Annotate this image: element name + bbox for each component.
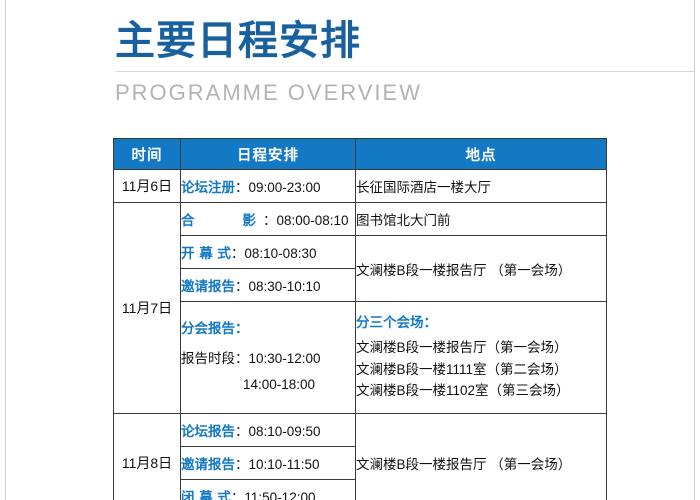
schedule-label: 论坛注册: [181, 180, 235, 196]
table-header-row: 时间 日程安排 地点: [114, 139, 607, 170]
parallel-venues-heading: 分三个会场：: [356, 311, 606, 337]
programme-overview-page: 主要日程安排 PROGRAMME OVERVIEW 时间 日程安排 地点 11月…: [0, 0, 700, 500]
table-row: 11月8日 论坛报告：08:10-09:50 文澜楼B段一楼报告厅 （第一会场）: [114, 414, 607, 447]
column-header-schedule: 日程安排: [181, 139, 356, 170]
column-header-time: 时间: [114, 139, 181, 170]
schedule-label: 论坛报告: [181, 424, 235, 440]
schedule-label: 开 幕 式: [181, 246, 231, 262]
table-row: 11月7日 合 影：08:00-08:10 图书馆北大门前: [114, 203, 607, 236]
schedule-separator: ：: [263, 213, 277, 228]
place-cell-parallel: 分三个会场： 文澜楼B段一楼报告厅（第一会场） 文澜楼B段一楼1111室（第二会…: [356, 302, 607, 414]
page-subtitle: PROGRAMME OVERVIEW: [115, 80, 675, 106]
table-row-parallel-sessions: 分会报告： 报告时段：10:30-12:00 14:00-18:00 分三个会场…: [114, 302, 607, 414]
page-left-rule: [5, 0, 6, 500]
place-cell: 文澜楼B段一楼报告厅 （第一会场）: [356, 414, 607, 500]
schedule-cell: 合 影：08:00-08:10: [181, 203, 356, 236]
place-cell: 图书馆北大门前: [356, 203, 607, 236]
header-block: 主要日程安排 PROGRAMME OVERVIEW: [115, 18, 675, 106]
venue-line: 文澜楼B段一楼1102室（第三会场）: [356, 380, 606, 402]
schedule-label: 邀请报告: [181, 457, 235, 473]
slot-time: 10:30-12:00: [249, 351, 321, 366]
schedule-cell: 开 幕 式：08:10-08:30: [181, 236, 356, 269]
place-cell: 长征国际酒店一楼大厅: [356, 170, 607, 203]
column-header-place: 地点: [356, 139, 607, 170]
schedule-label: 闭 幕 式: [181, 490, 231, 500]
schedule-time: 08:10-08:30: [244, 246, 316, 261]
venue-line: 文澜楼B段一楼1111室（第二会场）: [356, 359, 606, 381]
page-title: 主要日程安排: [115, 18, 675, 65]
slot-time: 14:00-18:00: [243, 377, 315, 392]
schedule-time: 09:00-23:00: [249, 180, 321, 195]
schedule-cell: 邀请报告：08:30-10:10: [181, 269, 356, 302]
schedule-separator: ：: [235, 279, 249, 294]
schedule-label: 合 影: [181, 213, 263, 229]
schedule-label: 邀请报告: [181, 279, 235, 295]
schedule-time: 08:10-09:50: [249, 424, 321, 439]
table-row: 11月6日 论坛注册：09:00-23:00 长征国际酒店一楼大厅: [114, 170, 607, 203]
parallel-sessions-heading: 分会报告：: [181, 317, 355, 343]
schedule-cell: 邀请报告：10:10-11:50: [181, 447, 356, 480]
venue-line: 文澜楼B段一楼报告厅（第一会场）: [356, 337, 606, 359]
schedule-cell-parallel: 分会报告： 报告时段：10:30-12:00 14:00-18:00: [181, 302, 356, 414]
schedule-separator: ：: [235, 180, 249, 195]
place-cell: 文澜楼B段一楼报告厅 （第一会场）: [356, 236, 607, 302]
title-divider: [115, 71, 695, 72]
parallel-session-slot-2: 14:00-18:00: [181, 375, 355, 396]
schedule-cell: 论坛报告：08:10-09:50: [181, 414, 356, 447]
schedule-cell: 论坛注册：09:00-23:00: [181, 170, 356, 203]
schedule-cell: 闭 幕 式：11:50-12:00: [181, 480, 356, 500]
date-cell-day2: 11月7日: [114, 203, 181, 414]
page-right-rule: [694, 0, 695, 500]
table-row: 开 幕 式：08:10-08:30 文澜楼B段一楼报告厅 （第一会场）: [114, 236, 607, 269]
schedule-table: 时间 日程安排 地点 11月6日 论坛注册：09:00-23:00 长征国际酒店…: [113, 138, 607, 500]
schedule-separator: ：: [231, 490, 245, 500]
date-cell-day1: 11月6日: [114, 170, 181, 203]
parallel-session-slot-1: 报告时段：10:30-12:00: [181, 349, 355, 370]
schedule-separator: ：: [235, 424, 249, 439]
table-body: 11月6日 论坛注册：09:00-23:00 长征国际酒店一楼大厅 11月7日 …: [114, 170, 607, 500]
slot-label: 报告时段：: [181, 351, 249, 366]
schedule-separator: ：: [231, 246, 245, 261]
schedule-time: 08:00-08:10: [277, 213, 349, 228]
schedule-time: 11:50-12:00: [244, 490, 315, 500]
date-cell-day3: 11月8日: [114, 414, 181, 500]
table-header: 时间 日程安排 地点: [114, 139, 607, 170]
schedule-time: 10:10-11:50: [249, 457, 320, 472]
schedule-time: 08:30-10:10: [249, 279, 321, 294]
schedule-separator: ：: [235, 457, 249, 472]
